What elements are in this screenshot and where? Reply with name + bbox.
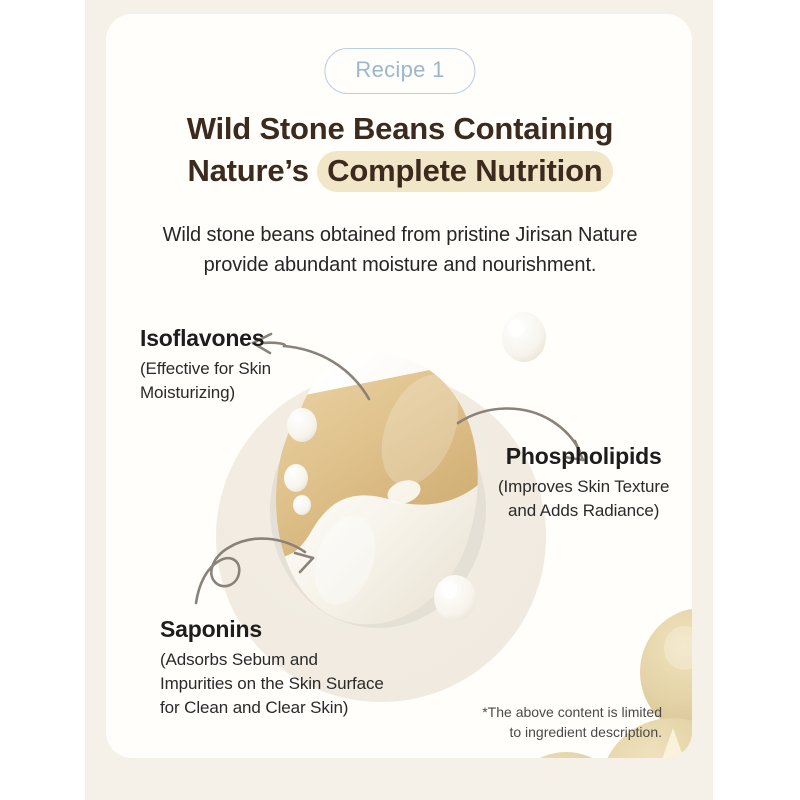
page-subtitle: Wild stone beans obtained from pristine … bbox=[0, 220, 800, 281]
headline-highlight: Complete Nutrition bbox=[317, 151, 612, 192]
footnote-line-1: *The above content is limited bbox=[462, 703, 662, 723]
recipe-badge: Recipe 1 bbox=[324, 48, 475, 94]
ingredient-desc-line: and Adds Radiance) bbox=[498, 499, 669, 523]
ingredient-desc-line: (Effective for Skin bbox=[140, 357, 271, 381]
ingredient-desc-line: for Clean and Clear Skin) bbox=[160, 696, 384, 720]
callout-isoflavones: Isoflavones (Effective for Skin Moisturi… bbox=[140, 325, 271, 405]
ingredient-desc-line: (Adsorbs Sebum and bbox=[160, 648, 384, 672]
headline-line-1: Wild Stone Beans Containing bbox=[0, 108, 800, 150]
ingredient-desc-saponins: (Adsorbs Sebum and Impurities on the Ski… bbox=[160, 648, 384, 720]
ingredient-desc-line: Moisturizing) bbox=[140, 381, 271, 405]
ingredient-name-phospholipids: Phospholipids bbox=[498, 443, 669, 470]
callout-saponins: Saponins (Adsorbs Sebum and Impurities o… bbox=[160, 616, 384, 720]
headline-line-2-plain: Nature’s bbox=[187, 153, 317, 188]
ingredient-name-isoflavones: Isoflavones bbox=[140, 325, 271, 352]
headline-line-2: Nature’s Complete Nutrition bbox=[0, 150, 800, 192]
footnote-line-2: to ingredient description. bbox=[462, 723, 662, 743]
ingredient-desc-line: Impurities on the Skin Surface bbox=[160, 672, 384, 696]
ingredient-desc-phospholipids: (Improves Skin Texture and Adds Radiance… bbox=[498, 475, 669, 523]
page-title: Wild Stone Beans Containing Nature’s Com… bbox=[0, 108, 800, 192]
subtitle-line-1: Wild stone beans obtained from pristine … bbox=[0, 220, 800, 250]
ingredient-desc-isoflavones: (Effective for Skin Moisturizing) bbox=[140, 357, 271, 405]
infographic-root: Recipe 1 Wild Stone Beans Containing Nat… bbox=[0, 0, 800, 800]
ingredient-name-saponins: Saponins bbox=[160, 616, 384, 643]
disclaimer-footnote: *The above content is limited to ingredi… bbox=[462, 703, 662, 743]
ingredient-desc-line: (Improves Skin Texture bbox=[498, 475, 669, 499]
subtitle-line-2: provide abundant moisture and nourishmen… bbox=[0, 250, 800, 280]
callout-phospholipids: Phospholipids (Improves Skin Texture and… bbox=[498, 443, 669, 523]
